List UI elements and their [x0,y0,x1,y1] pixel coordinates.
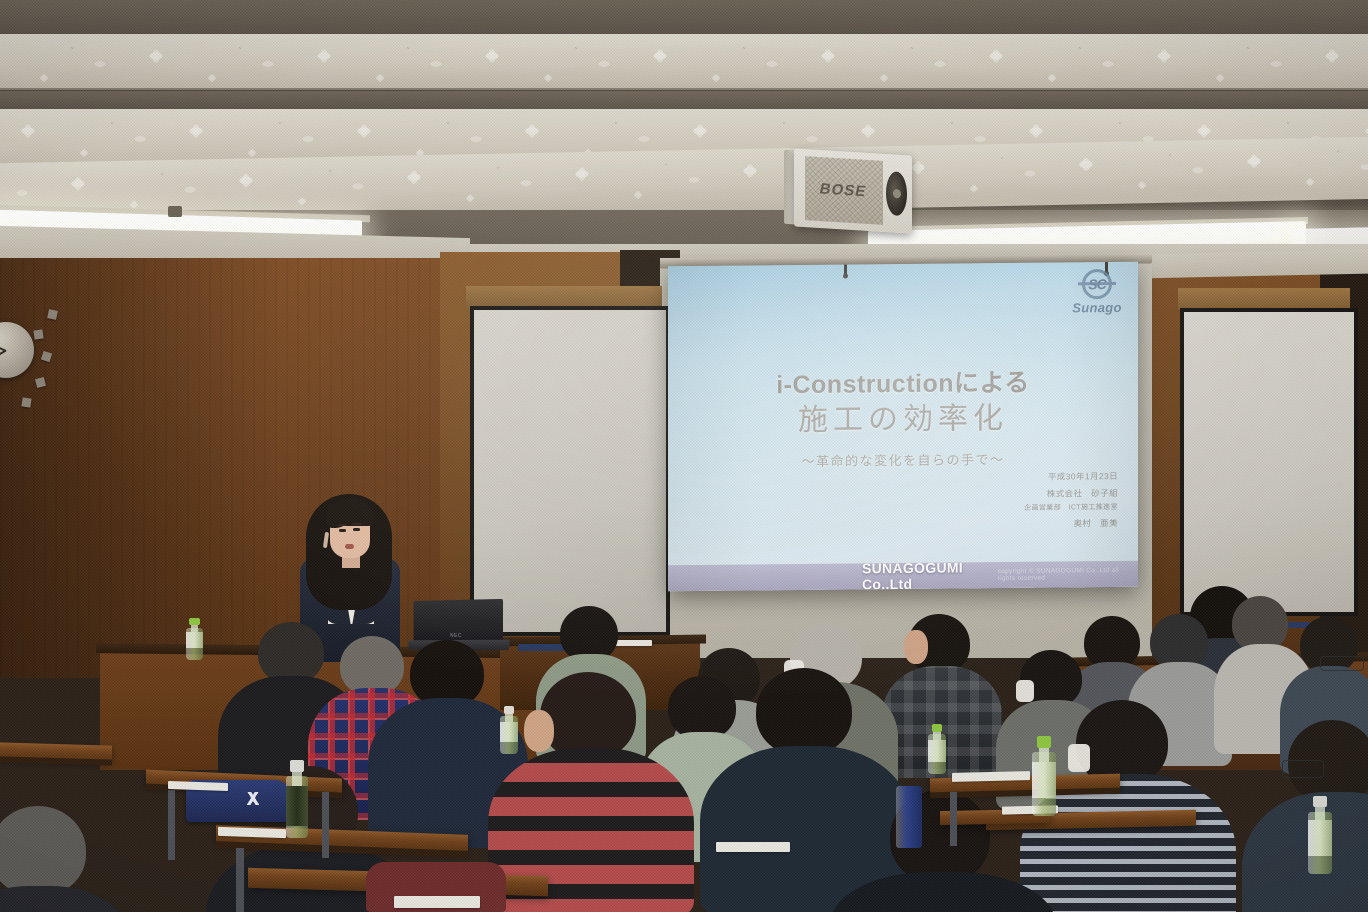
paper-sheet [716,842,790,852]
bag-logo [238,792,268,805]
green-tea-bottle [286,760,308,838]
person-head [756,668,852,756]
bottle-neck [505,714,513,722]
speaker-body: BOSE [794,148,912,233]
slide-title-line1: i-Constructionによる [668,368,1138,402]
laptop-screen[interactable]: NEC [414,599,503,643]
bottle-label [286,786,308,826]
speaker-grille: BOSE [805,156,883,225]
speaker-driver [886,171,907,216]
person-head [340,636,404,696]
slide-footer-brand: SUNAGOGUMI Co.,Ltd [862,559,990,591]
credit-presenter-name: 奥村 亜美 [1024,515,1118,532]
sunago-logo: SC Sunago [1068,269,1126,316]
credit-department: 企画営業部 ICT施工推進室 [1024,501,1118,516]
bose-logo: BOSE [818,181,868,201]
whiteboard-left-header [466,286,662,308]
bottle-label [186,632,203,648]
desk-leg [168,790,175,860]
whiteboard-right[interactable] [1180,308,1358,616]
person-torso [1242,792,1368,912]
sunago-logo-mark: SC [1082,269,1112,299]
bottle-neck [1039,748,1050,762]
logo-wordmark: Sunago [1068,300,1126,316]
face-mask [1068,744,1090,772]
paper-sheet [394,896,480,908]
person-hand [524,710,554,752]
person-head [0,806,86,896]
ceiling-light-mount-left [168,206,182,217]
slide-title-line2: 施工の効率化 [668,397,1138,441]
clock-marker [33,329,43,339]
person-torso [0,886,130,912]
bose-speaker: BOSE [794,148,912,233]
whiteboard-left-surface[interactable] [474,310,666,632]
whiteboard-right-surface[interactable] [1184,312,1354,612]
bottle-label [928,740,946,762]
credit-company: 株式会社 砂子組 [1024,484,1118,501]
whiteboard-right-header [1178,288,1350,310]
presenter-mouth [345,544,354,549]
bottle-cap [504,706,515,714]
screen-hook [844,265,847,276]
bottle-label [1308,820,1332,856]
desk-leg [322,792,329,858]
eyeglasses [1282,760,1324,778]
clock-marker [21,397,31,407]
bottle-cap [189,618,199,625]
bottle-label [500,722,518,742]
desk-leg [950,792,957,846]
green-tea-bottle [500,706,518,754]
face-mask [1016,680,1034,702]
projection-screen: SC Sunago i-Constructionによる 施工の効率化 〜革命的な… [668,262,1138,592]
laptop-brand-label: NEC [450,633,462,639]
wall-right-upper-light [1140,250,1368,279]
eyeglasses [1320,656,1364,671]
ceiling [0,0,1368,268]
person-hand [904,630,928,664]
credit-date: 平成30年1月23日 [1024,468,1118,485]
bottle-neck [1315,807,1326,820]
presenter-brow [352,523,361,525]
person-head [258,622,324,684]
presenter-brow [338,524,347,526]
logo-monogram: SC [1088,276,1105,292]
person-head [668,676,736,740]
presenter-eye [353,528,360,531]
paper-sheet [952,771,1030,782]
slide-title-block: i-Constructionによる 施工の効率化 〜革命的な変化を自らの手で〜 [668,368,1138,471]
presenter-eye [339,529,346,532]
desk-leg [236,848,244,912]
bottle-neck [191,624,198,632]
bottle-cap [1037,736,1051,748]
slide-credits: 平成30年1月23日 株式会社 砂子組 企画営業部 ICT施工推進室 奥村 亜美 [1024,468,1118,532]
bottle-cap [290,760,303,772]
green-tea-bottle [928,724,946,774]
green-tea-bottle [1308,796,1332,874]
bottle-neck [933,732,941,740]
bottle-cap [1313,796,1327,807]
slide-footer: SUNAGOGUMI Co.,Ltd copyright © SUNAGOGUM… [668,561,1138,592]
person-head [540,672,636,760]
slide-subtitle: 〜革命的な変化を自らの手で〜 [668,447,1138,471]
green-tea-bottle [186,618,203,660]
seminar-room-photo: BOSE [0,0,1368,912]
bottle-cap [932,724,943,732]
slide-footer-copyright: copyright © SUNAGOGUMI Co.,Ltd all right… [998,567,1138,582]
whiteboard-left[interactable] [470,306,670,636]
bottle-label [1032,762,1056,798]
clock-marker [47,309,58,320]
green-tea-bottle [1032,736,1056,816]
bottle-neck [292,772,302,786]
blue-beverage-bottle [896,786,922,848]
